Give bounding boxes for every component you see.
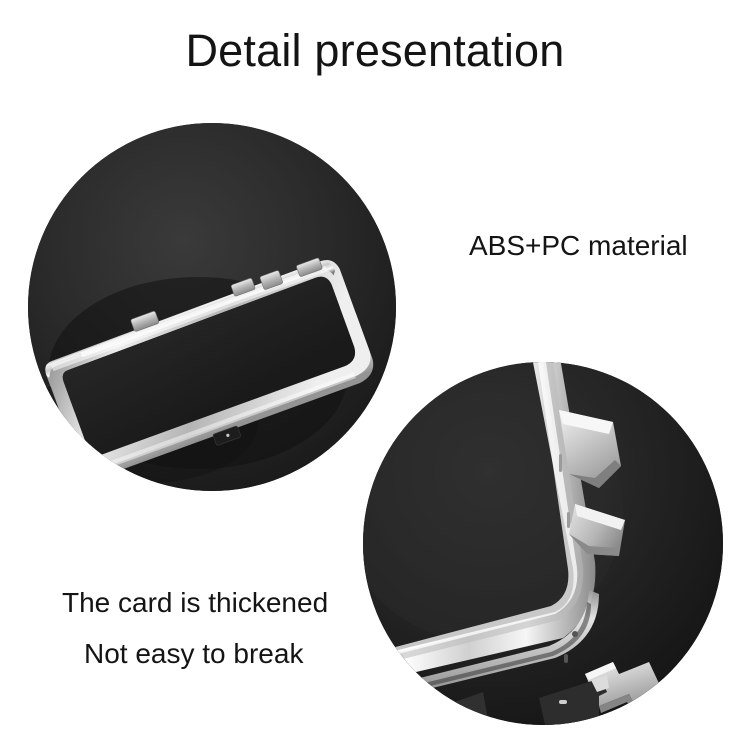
caption-abs-pc-material: ABS+PC material	[469, 229, 688, 263]
full-frame-illustration	[28, 123, 396, 491]
product-photo-full-frame	[28, 123, 396, 491]
caption-card-thickened: The card is thickened	[62, 586, 328, 620]
product-photo-clip-closeup	[363, 362, 723, 725]
caption-not-easy-to-break: Not easy to break	[84, 637, 303, 671]
clip-closeup-illustration	[363, 362, 723, 725]
page-title: Detail presentation	[0, 22, 750, 80]
product-detail-page: Detail presentation	[0, 0, 750, 750]
